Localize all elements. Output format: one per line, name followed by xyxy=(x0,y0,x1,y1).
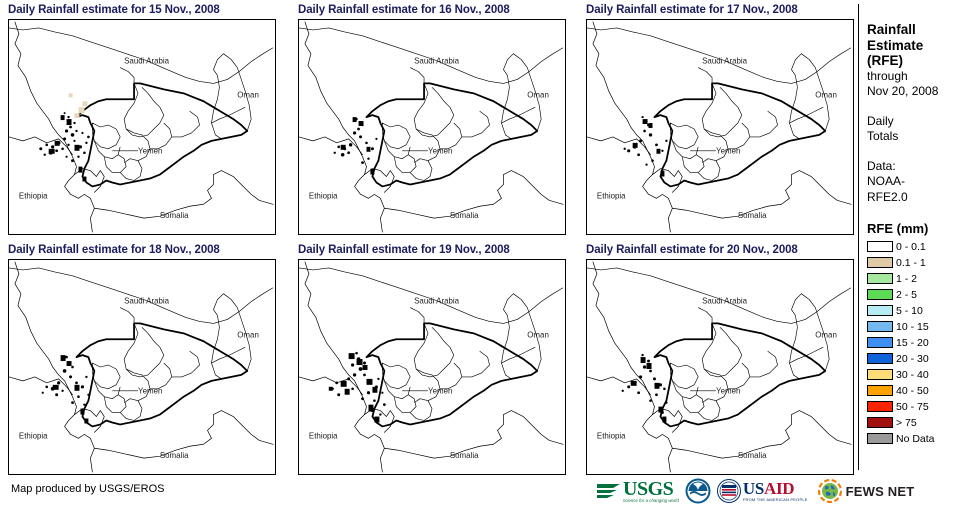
map-label-saudi-arabia: Saudi Arabia xyxy=(414,57,460,66)
legend-item-label: 0 - 0.1 xyxy=(896,241,926,253)
map-panel: Daily Rainfall estimate for 20 Nov., 200… xyxy=(578,242,856,480)
map-canvas[interactable]: Saudi Arabia Oman Yemen Ethiopia Somalia xyxy=(586,259,854,475)
map-label-ethiopia: Ethiopia xyxy=(19,431,48,440)
panel-title: Daily Rainfall estimate for 19 Nov., 200… xyxy=(290,242,568,258)
map-panel: Daily Rainfall estimate for 18 Nov., 200… xyxy=(0,242,278,480)
map-label-yemen: Yemen xyxy=(428,387,452,396)
usaid-seal-icon xyxy=(717,479,741,503)
map-label-ethiopia: Ethiopia xyxy=(597,191,626,200)
map-label-saudi-arabia: Saudi Arabia xyxy=(124,297,170,306)
map-canvas[interactable]: Saudi Arabia Oman Yemen Ethiopia Somalia xyxy=(298,259,566,475)
sidebar-data-line1: Data: xyxy=(867,159,967,175)
map-label-saudi-arabia: Saudi Arabia xyxy=(702,57,748,66)
map-label-oman: Oman xyxy=(815,330,837,339)
legend-item: 5 - 10 xyxy=(867,303,967,318)
usaid-aid-text: AID xyxy=(764,479,794,498)
legend-title: RFE (mm) xyxy=(867,221,967,236)
usgs-tagline: science for a changing world xyxy=(623,498,679,503)
map-label-yemen: Yemen xyxy=(716,147,740,156)
usgs-wave-icon xyxy=(596,480,622,502)
map-canvas[interactable]: Saudi Arabia Oman Yemen Ethiopia Somalia xyxy=(8,259,276,475)
legend-item-label: 50 - 75 xyxy=(896,401,929,413)
legend-item: 40 - 50 xyxy=(867,383,967,398)
map-graphic: Saudi Arabia Oman Yemen Ethiopia Somalia xyxy=(9,260,275,474)
map-label-somalia: Somalia xyxy=(450,211,479,220)
fewsnet-globe-icon xyxy=(818,479,842,503)
usgs-name: USGS xyxy=(623,480,679,498)
legend-item-label: No Data xyxy=(896,433,935,445)
sidebar-data-line3: RFE2.0 xyxy=(867,190,967,206)
legend-swatch-icon xyxy=(867,433,893,444)
map-label-ethiopia: Ethiopia xyxy=(597,431,626,440)
map-panel: Daily Rainfall estimate for 16 Nov., 200… xyxy=(290,2,568,240)
map-panel: Daily Rainfall estimate for 15 Nov., 200… xyxy=(0,2,278,240)
usgs-logo: USGS science for a changing world xyxy=(596,476,679,506)
map-label-oman: Oman xyxy=(237,330,259,339)
legend-swatch-icon xyxy=(867,337,893,348)
sidebar-heading-line2: Estimate xyxy=(867,38,967,54)
map-label-saudi-arabia: Saudi Arabia xyxy=(414,297,460,306)
legend-item: 2 - 5 xyxy=(867,287,967,302)
map-label-yemen: Yemen xyxy=(138,147,162,156)
map-label-yemen: Yemen xyxy=(428,147,452,156)
footer-credit: Map produced by USGS/EROS xyxy=(11,483,164,495)
sidebar-heading-line1: Rainfall xyxy=(867,22,967,38)
map-graphic: Saudi Arabia Oman Yemen Ethiopia Somalia xyxy=(587,260,853,474)
map-label-somalia: Somalia xyxy=(450,451,479,460)
map-canvas[interactable]: Saudi Arabia Oman Yemen Ethiopia Somalia xyxy=(8,19,276,235)
legend-swatch-icon xyxy=(867,353,893,364)
usaid-logo: USAID FROM THE AMERICAN PEOPLE xyxy=(717,476,808,506)
legend-item-label: 15 - 20 xyxy=(896,337,929,349)
map-graphic: Saudi Arabia Oman Yemen Ethiopia Somalia xyxy=(299,260,565,474)
fewsnet-logo: FEWS NET xyxy=(818,476,915,506)
legend-item: 10 - 15 xyxy=(867,319,967,334)
legend-sidebar: Rainfall Estimate (RFE) through Nov 20, … xyxy=(858,4,967,470)
legend-item: > 75 xyxy=(867,415,967,430)
legend-item-label: > 75 xyxy=(896,417,917,429)
legend-item: No Data xyxy=(867,431,967,446)
legend-swatch-icon xyxy=(867,369,893,380)
legend-swatch-icon xyxy=(867,417,893,428)
legend-item-label: 1 - 2 xyxy=(896,273,917,285)
panel-title: Daily Rainfall estimate for 20 Nov., 200… xyxy=(578,242,856,258)
legend-item-label: 40 - 50 xyxy=(896,385,929,397)
legend-item-label: 30 - 40 xyxy=(896,369,929,381)
map-label-somalia: Somalia xyxy=(738,211,767,220)
legend-swatch-icon xyxy=(867,273,893,284)
map-graphic: Saudi Arabia Oman Yemen Ethiopia Somalia xyxy=(299,20,565,234)
legend-item-label: 0.1 - 1 xyxy=(896,257,926,269)
map-page: Daily Rainfall estimate for 15 Nov., 200… xyxy=(0,0,967,511)
legend-swatch-icon xyxy=(867,321,893,332)
legend-swatch-icon xyxy=(867,289,893,300)
legend-item: 1 - 2 xyxy=(867,271,967,286)
noaa-seal-icon xyxy=(685,478,711,504)
sidebar-heading-line3: (RFE) xyxy=(867,53,967,69)
map-panel: Daily Rainfall estimate for 19 Nov., 200… xyxy=(290,242,568,480)
usaid-name: USAID xyxy=(743,481,808,497)
usaid-tagline: FROM THE AMERICAN PEOPLE xyxy=(743,497,808,502)
footer-logos: USGS science for a changing world xyxy=(596,474,914,508)
map-canvas[interactable]: Saudi Arabia Oman Yemen Ethiopia Somalia xyxy=(586,19,854,235)
panel-title: Daily Rainfall estimate for 15 Nov., 200… xyxy=(0,2,278,18)
panel-title: Daily Rainfall estimate for 16 Nov., 200… xyxy=(290,2,568,18)
legend-item: 30 - 40 xyxy=(867,367,967,382)
map-label-oman: Oman xyxy=(815,90,837,99)
panel-title: Daily Rainfall estimate for 17 Nov., 200… xyxy=(578,2,856,18)
legend-item-label: 5 - 10 xyxy=(896,305,923,317)
legend-swatch-icon xyxy=(867,241,893,252)
map-graphic: Saudi Arabia Oman Yemen Ethiopia Somalia xyxy=(9,20,275,234)
noaa-logo xyxy=(685,476,711,506)
sidebar-totals-line2: Totals xyxy=(867,129,967,145)
map-canvas[interactable]: Saudi Arabia Oman Yemen Ethiopia Somalia xyxy=(298,19,566,235)
sidebar-totals-line1: Daily xyxy=(867,114,967,130)
map-label-saudi-arabia: Saudi Arabia xyxy=(124,57,170,66)
legend-swatch-icon xyxy=(867,401,893,412)
legend-item: 0.1 - 1 xyxy=(867,255,967,270)
legend-item: 15 - 20 xyxy=(867,335,967,350)
map-panel: Daily Rainfall estimate for 17 Nov., 200… xyxy=(578,2,856,240)
usaid-us-text: US xyxy=(743,479,764,498)
legend-item-label: 2 - 5 xyxy=(896,289,917,301)
map-label-oman: Oman xyxy=(237,90,259,99)
fewsnet-name: FEWS NET xyxy=(846,484,915,499)
sidebar-through-date: Nov 20, 2008 xyxy=(867,84,967,100)
legend-swatch-icon xyxy=(867,385,893,396)
legend-item-label: 20 - 30 xyxy=(896,353,929,365)
legend-item: 0 - 0.1 xyxy=(867,239,967,254)
legend-swatch-icon xyxy=(867,305,893,316)
map-label-somalia: Somalia xyxy=(160,451,189,460)
legend-item: 50 - 75 xyxy=(867,399,967,414)
panel-title: Daily Rainfall estimate for 18 Nov., 200… xyxy=(0,242,278,258)
legend-item: 20 - 30 xyxy=(867,351,967,366)
map-label-ethiopia: Ethiopia xyxy=(19,191,48,200)
map-label-oman: Oman xyxy=(527,330,549,339)
map-label-ethiopia: Ethiopia xyxy=(309,191,338,200)
map-label-ethiopia: Ethiopia xyxy=(309,431,338,440)
map-label-yemen: Yemen xyxy=(716,387,740,396)
map-label-saudi-arabia: Saudi Arabia xyxy=(702,297,748,306)
map-graphic: Saudi Arabia Oman Yemen Ethiopia Somalia xyxy=(587,20,853,234)
legend-item-label: 10 - 15 xyxy=(896,321,929,333)
map-label-oman: Oman xyxy=(527,90,549,99)
map-label-somalia: Somalia xyxy=(738,451,767,460)
map-label-yemen: Yemen xyxy=(138,387,162,396)
legend-swatch-icon xyxy=(867,257,893,268)
map-label-somalia: Somalia xyxy=(160,211,189,220)
sidebar-data-line2: NOAA- xyxy=(867,174,967,190)
sidebar-through: through xyxy=(867,69,967,85)
